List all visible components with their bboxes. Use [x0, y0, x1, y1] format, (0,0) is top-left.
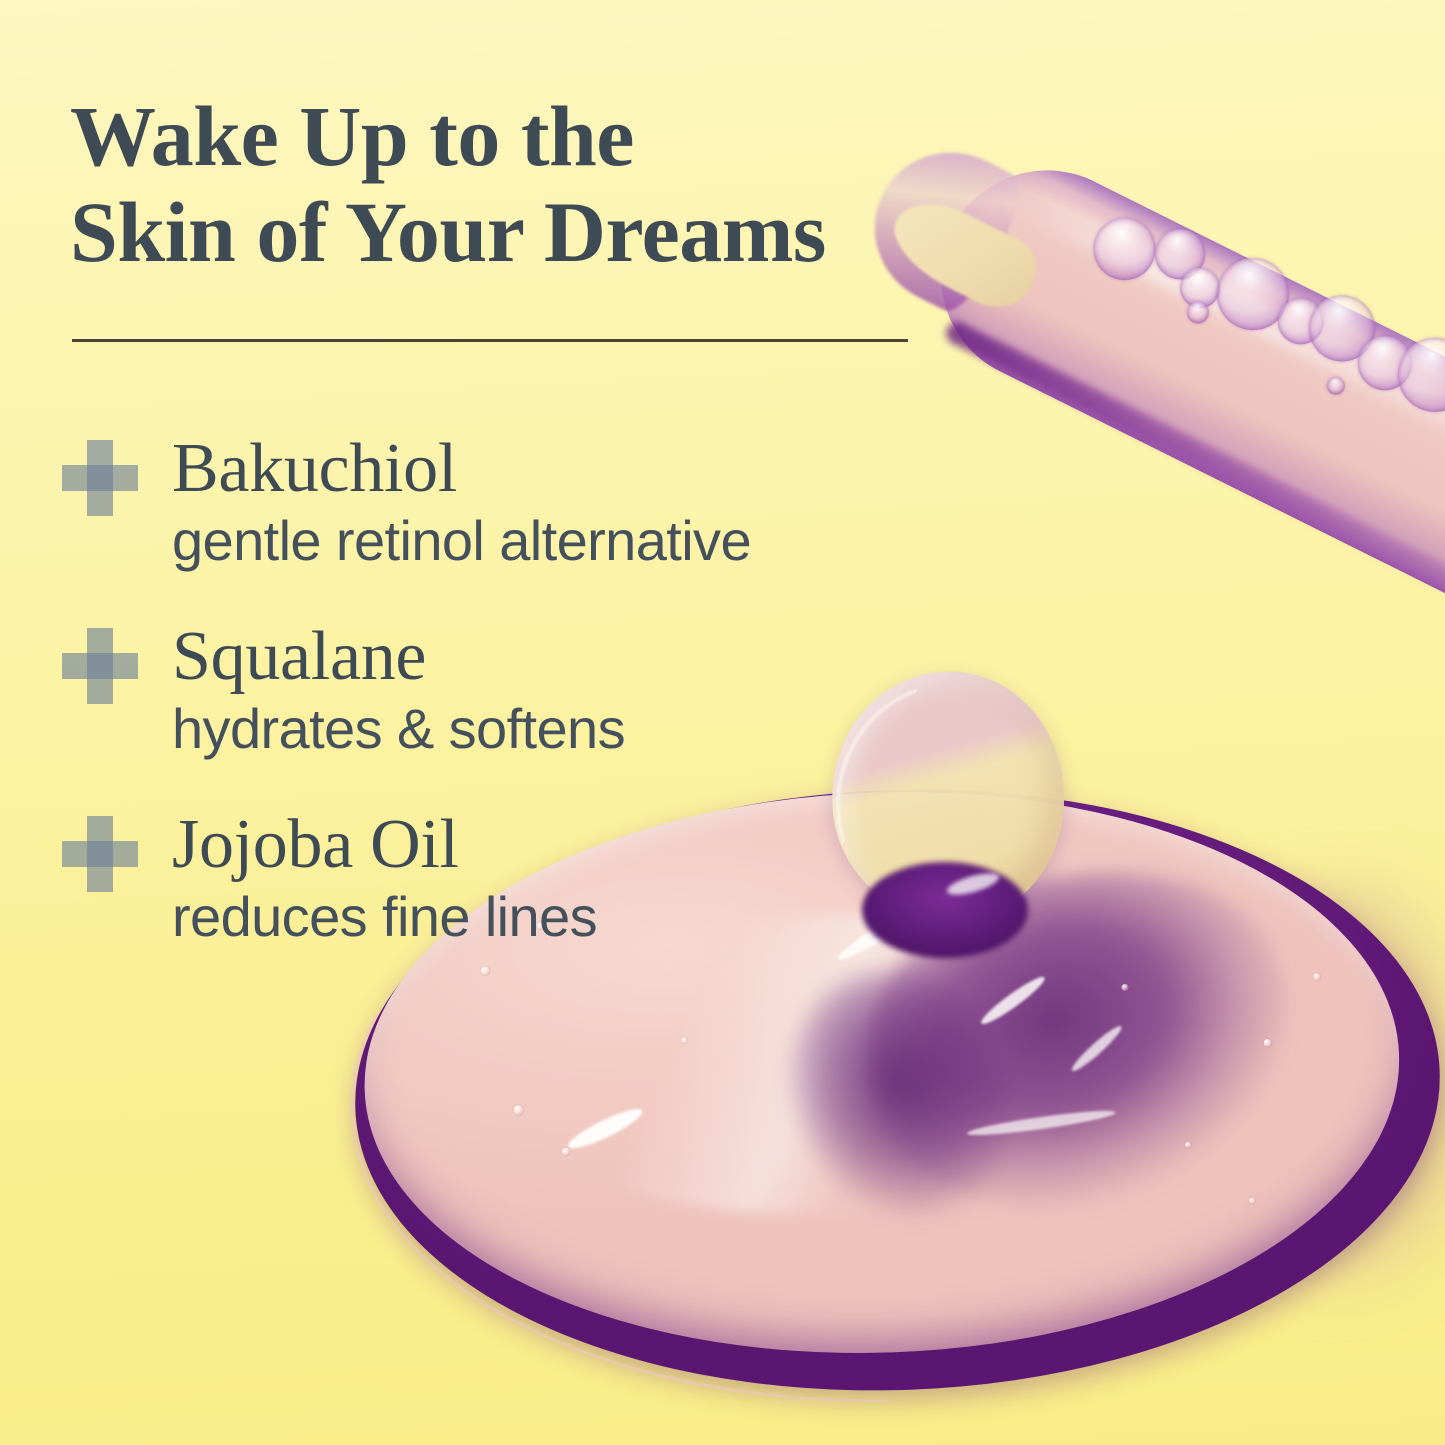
- page-title: Wake Up to the Skin of Your Dreams: [70, 88, 826, 280]
- plus-icon: [62, 628, 138, 704]
- plus-icon: [62, 440, 138, 516]
- feature-name: Jojoba Oil: [172, 808, 1022, 882]
- list-item: Jojoba Oil reduces fine lines: [62, 808, 1022, 948]
- divider: [72, 339, 908, 342]
- product-feature-graphic: Wake Up to the Skin of Your Dreams Bakuc…: [0, 0, 1445, 1445]
- feature-list: Bakuchiol gentle retinol alternative Squ…: [62, 432, 1022, 948]
- plus-icon-horizontal-bar: [62, 465, 138, 491]
- plus-icon: [62, 816, 138, 892]
- content-layer: Wake Up to the Skin of Your Dreams Bakuc…: [0, 0, 1445, 1445]
- feature-name: Bakuchiol: [172, 432, 1022, 506]
- feature-description: reduces fine lines: [172, 886, 1022, 948]
- feature-description: gentle retinol alternative: [172, 510, 1022, 572]
- feature-description: hydrates & softens: [172, 698, 1022, 760]
- plus-icon-horizontal-bar: [62, 653, 138, 679]
- list-item: Squalane hydrates & softens: [62, 620, 1022, 760]
- list-item: Bakuchiol gentle retinol alternative: [62, 432, 1022, 572]
- plus-icon-horizontal-bar: [62, 841, 138, 867]
- feature-name: Squalane: [172, 620, 1022, 694]
